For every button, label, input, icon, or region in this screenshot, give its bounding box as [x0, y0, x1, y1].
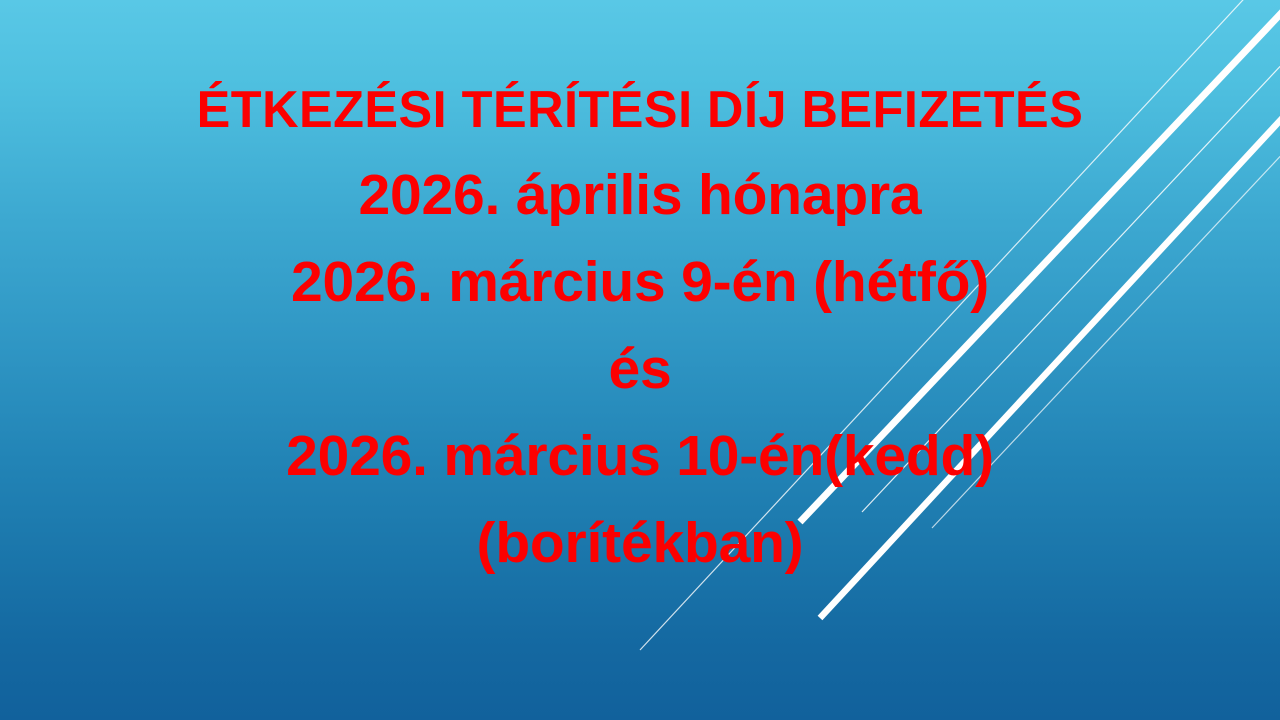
body-line-envelope-note: (borítékban) [0, 515, 1280, 572]
body-line-date-tuesday: 2026. március 10-én(kedd) [0, 428, 1280, 485]
slide-title: Étkezési térítési díj befizetés [19, 84, 1261, 136]
body-line-conjunction: és [0, 341, 1280, 398]
body-line-month: 2026. április hónapra [0, 167, 1280, 224]
body-line-date-monday: 2026. március 9-én (hétfő) [0, 254, 1280, 311]
slide-canvas: Étkezési térítési díj befizetés 2026. áp… [0, 0, 1280, 720]
